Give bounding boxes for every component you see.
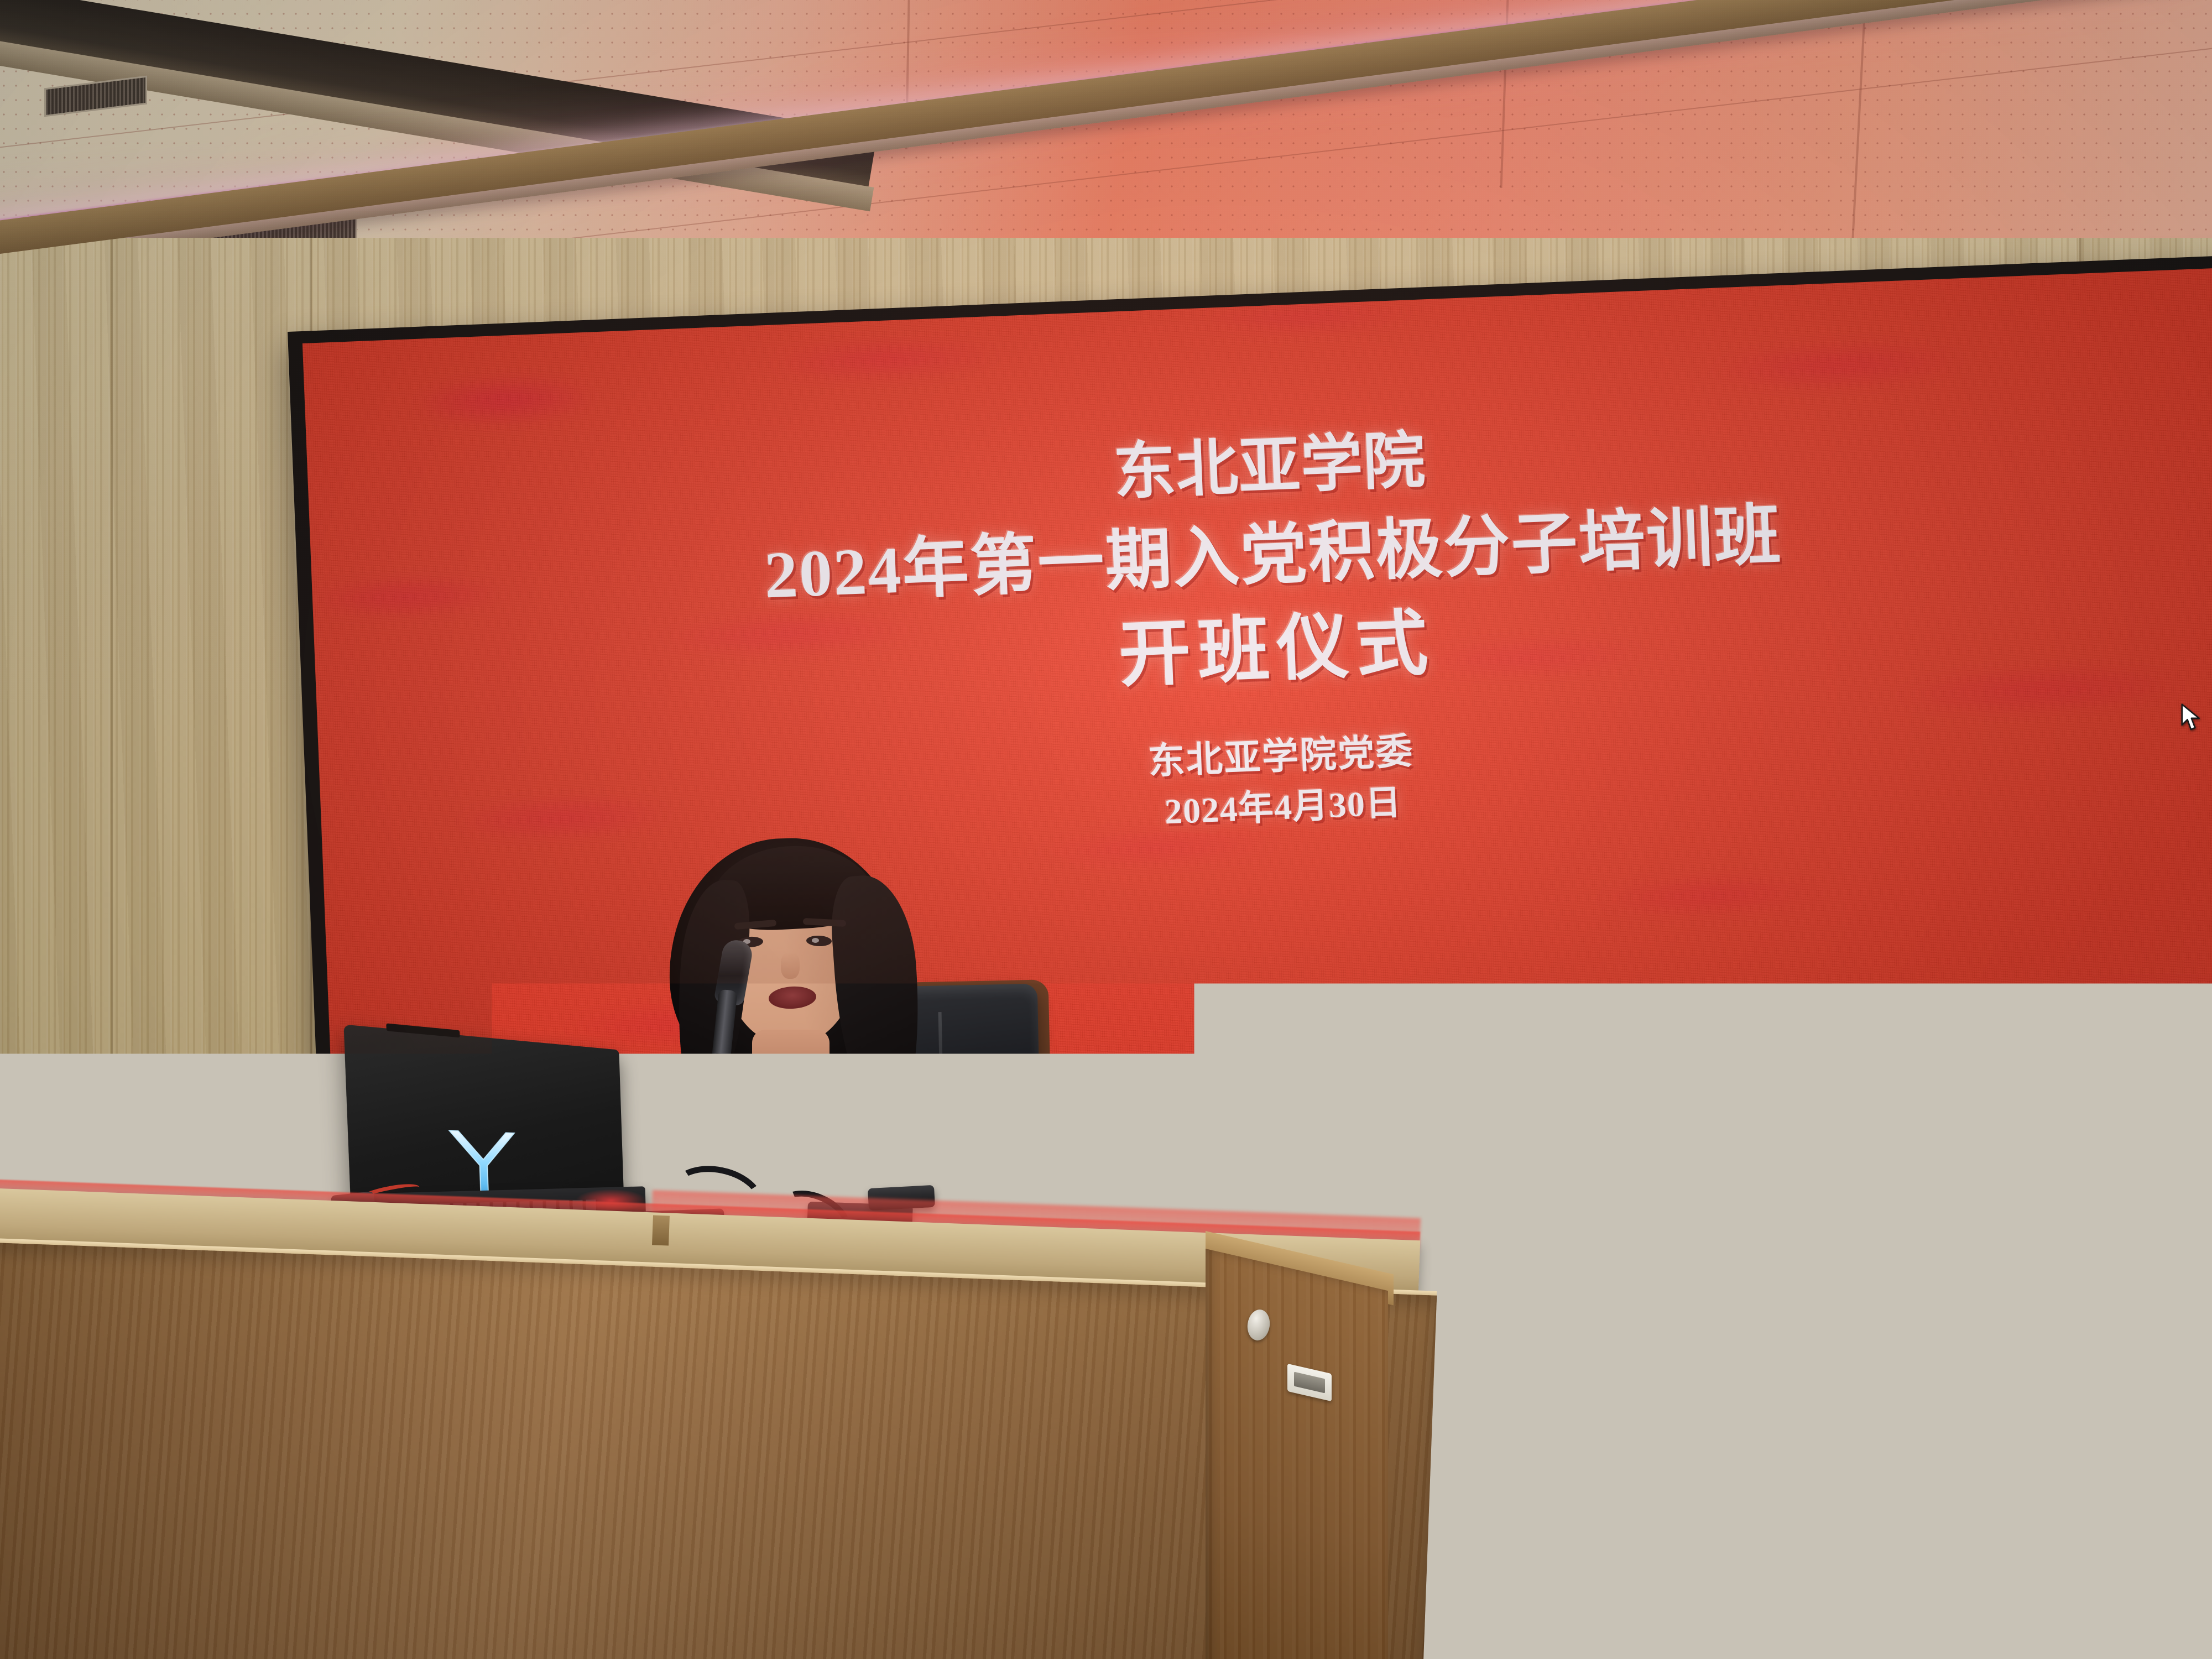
mouse-pointer-icon[interactable] <box>2180 703 2202 732</box>
podium-side-panel <box>1206 1249 1388 1659</box>
speaker-person <box>586 813 1040 1233</box>
screen-line-issuer: 东北亚学院党委 <box>1147 734 1415 781</box>
photo-scene: 东北亚学院 2024年第一期入党积极分子培训班 开班仪式 东北亚学院党委 202… <box>0 0 2212 1659</box>
desk-step-notch <box>652 1215 670 1245</box>
screen-line-org: 东北亚学院 <box>1113 430 1427 504</box>
led-display-screen: 东北亚学院 2024年第一期入党积极分子培训班 开班仪式 东北亚学院党委 202… <box>288 255 2212 1150</box>
nose <box>781 952 800 979</box>
screen-line-event: 开班仪式 <box>1118 608 1437 692</box>
eye-highlight-right <box>812 938 819 943</box>
screen-line-program: 2024年第一期入党积极分子培训班 <box>763 502 1783 608</box>
screen-line-date: 2024年4月30日 <box>1164 785 1402 830</box>
